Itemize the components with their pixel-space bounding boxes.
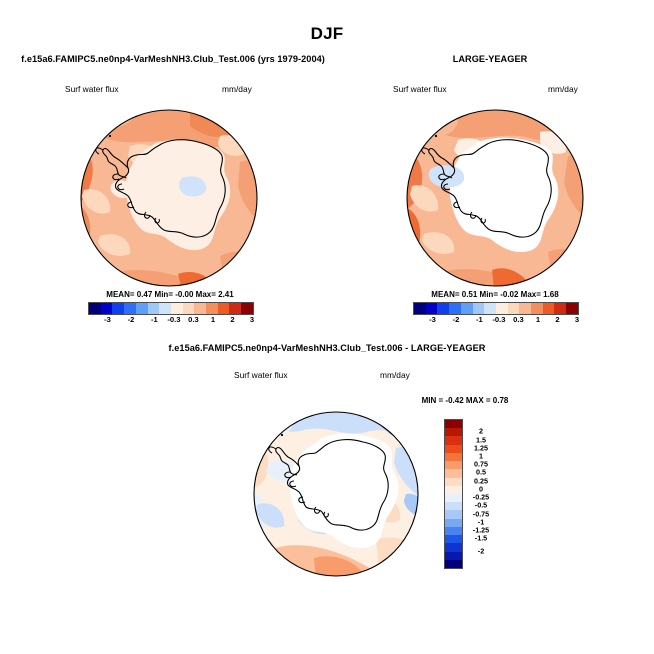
diff-colorbar-ticks: 2 1.5 1.25 1 0.75 0.5 0.25 0 -0.25 -0.5 … (464, 419, 498, 567)
diff-colorbar (444, 419, 463, 569)
right-colorbar-tick: 1 (536, 315, 540, 324)
left-colorbar-ticks: -3 -2 -1 -0.3 0.3 1 2 3 (88, 315, 252, 327)
right-colorbar-ticks: -3 -2 -1 -0.3 0.3 1 2 3 (413, 315, 577, 327)
left-panel-units-label: mm/day (222, 84, 252, 94)
diff-panel-title: f.e15a6.FAMIPC5.ne0np4-VarMeshNH3.Club_T… (0, 343, 654, 353)
left-colorbar (88, 302, 254, 315)
left-panel-title: f.e15a6.FAMIPC5.ne0np4-VarMeshNH3.Club_T… (8, 54, 338, 64)
right-panel-units-label: mm/day (548, 84, 578, 94)
left-colorbar-tick: 2 (230, 315, 234, 324)
page-title: DJF (0, 24, 654, 44)
right-colorbar-tick: -1 (476, 315, 483, 324)
right-map-antarctica (396, 106, 594, 290)
right-panel-title: LARGE-YEAGER (335, 54, 645, 64)
left-panel-stats: MEAN= 0.47 Min= -0.00 Max= 2.41 (75, 290, 265, 299)
left-colorbar-tick: 3 (250, 315, 254, 324)
right-panel-stats: MEAN= 0.51 Min= -0.02 Max= 1.68 (400, 290, 590, 299)
right-colorbar-tick: 2 (555, 315, 559, 324)
right-colorbar-tick: -0.3 (492, 315, 505, 324)
diff-panel-field-label: Surf water flux (234, 370, 288, 380)
diff-colorbar-tick: -2 (464, 546, 498, 555)
left-colorbar-tick: 0.3 (188, 315, 199, 324)
right-colorbar-tick: -3 (429, 315, 436, 324)
right-colorbar (413, 302, 579, 315)
diff-panel-stats: MIN = -0.42 MAX = 0.78 (395, 396, 535, 405)
diff-map-antarctica (246, 408, 426, 580)
diff-colorbar-tick: -1.5 (464, 534, 498, 543)
right-panel-field-label: Surf water flux (393, 84, 447, 94)
left-panel-field-label: Surf water flux (65, 84, 119, 94)
left-colorbar-tick: -3 (104, 315, 111, 324)
right-colorbar-tick: 0.3 (513, 315, 524, 324)
right-colorbar-tick: 3 (575, 315, 579, 324)
left-colorbar-tick: -2 (128, 315, 135, 324)
left-map-antarctica (70, 106, 268, 290)
left-colorbar-tick: -1 (151, 315, 158, 324)
right-colorbar-tick: -2 (453, 315, 460, 324)
diff-panel-units-label: mm/day (380, 370, 410, 380)
left-colorbar-tick: 1 (211, 315, 215, 324)
left-colorbar-tick: -0.3 (167, 315, 180, 324)
